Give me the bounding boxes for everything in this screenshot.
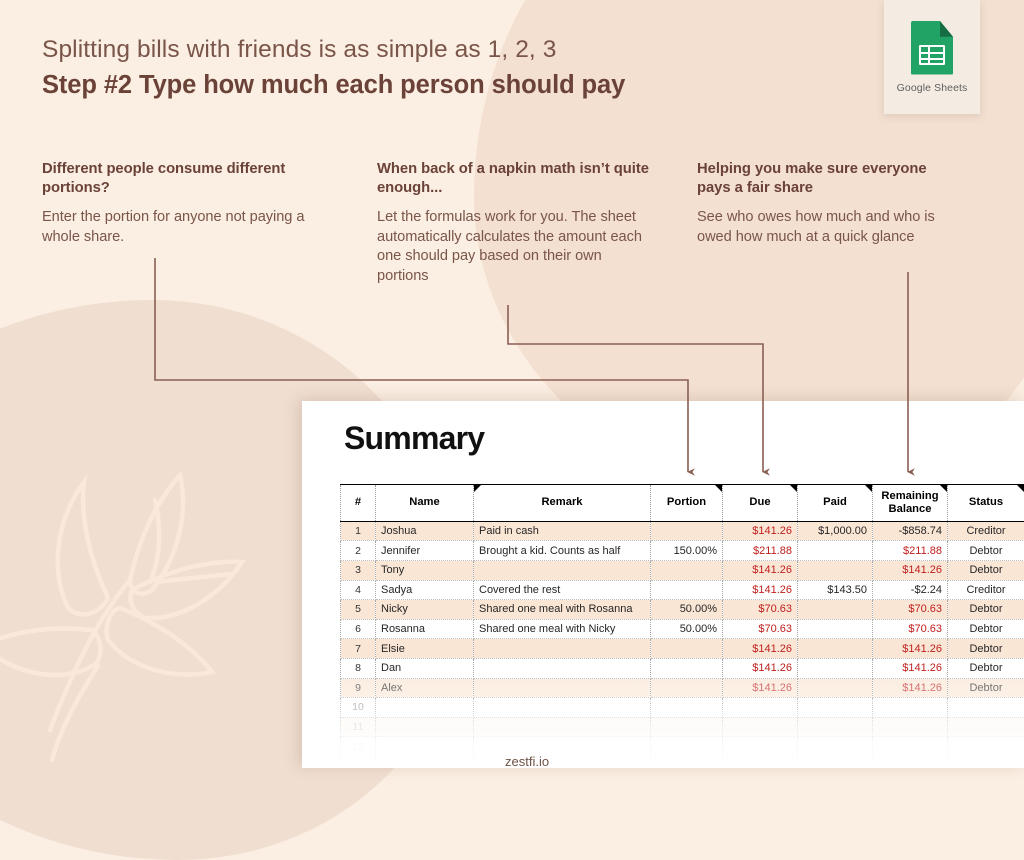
cell-portion[interactable] [651,658,723,678]
table-row[interactable]: 2JenniferBrought a kid. Counts as half15… [341,541,1024,561]
cell-number[interactable]: 1 [341,521,376,541]
cell-due[interactable]: $141.26 [723,560,798,580]
callout-body: Enter the portion for anyone not paying … [42,208,342,247]
cell-name[interactable]: Sadya [376,580,474,600]
cell-status[interactable]: Debtor [948,678,1024,698]
cell-remark[interactable] [474,717,651,737]
headline-step-title: Step #2 Type how much each person should… [42,69,625,103]
cell-remark[interactable] [474,560,651,580]
table-row[interactable]: 6RosannaShared one meal with Nicky50.00%… [341,619,1024,639]
cell-status[interactable] [948,737,1024,757]
cell-paid[interactable] [798,541,873,561]
cell-remaining-balance[interactable]: $141.26 [873,678,948,698]
cell-remaining-balance[interactable]: $141.26 [873,658,948,678]
column-header-remark[interactable]: Remark [474,485,651,522]
cell-remaining-balance[interactable]: $141.26 [873,560,948,580]
cell-due[interactable] [723,717,798,737]
cell-paid[interactable] [798,698,873,718]
table-row[interactable]: 1JoshuaPaid in cash$141.26$1,000.00-$858… [341,521,1024,541]
cell-paid[interactable] [798,756,873,768]
cell-remaining-balance[interactable]: $211.88 [873,541,948,561]
headline-eyebrow: Splitting bills with friends is as simpl… [42,35,625,65]
cell-remaining-balance[interactable] [873,737,948,757]
cell-due[interactable]: $141.26 [723,521,798,541]
google-sheets-icon [911,21,953,75]
cell-name[interactable]: Elsie [376,639,474,659]
cell-portion[interactable] [651,737,723,757]
cell-status[interactable] [948,756,1024,768]
callout-remaining-balance: Helping you make sure everyone pays a fa… [697,160,963,247]
cell-name[interactable]: Jennifer [376,541,474,561]
callout-body: See who owes how much and who is owed ho… [697,208,963,247]
cell-number[interactable]: 5 [341,600,376,620]
cell-remaining-balance[interactable] [873,717,948,737]
table-row[interactable]: 13 [341,756,1024,768]
cell-portion[interactable] [651,580,723,600]
cell-number[interactable]: 10 [341,698,376,718]
cell-portion[interactable]: 50.00% [651,600,723,620]
cell-number[interactable]: 4 [341,580,376,600]
cell-remark[interactable] [474,756,651,768]
cell-portion[interactable] [651,639,723,659]
table-body: 1JoshuaPaid in cash$141.26$1,000.00-$858… [341,521,1024,768]
cell-name[interactable]: Rosanna [376,619,474,639]
cell-number[interactable]: 8 [341,658,376,678]
callout-body: Let the formulas work for you. The sheet… [377,208,649,286]
summary-table[interactable]: # Name Remark Portion Due Paid Remaining… [340,484,1024,768]
cell-name[interactable] [376,756,474,768]
cell-remaining-balance[interactable]: $141.26 [873,639,948,659]
cell-due[interactable]: $141.26 [723,639,798,659]
cell-status[interactable]: Debtor [948,560,1024,580]
table-header-row: # Name Remark Portion Due Paid Remaining… [341,485,1024,522]
spreadsheet-card: Summary # Name Remark Portion Due Paid R… [302,401,1024,768]
cell-name[interactable] [376,717,474,737]
cell-remaining-balance[interactable]: $70.63 [873,619,948,639]
column-header-status[interactable]: Status [948,485,1024,522]
cell-name[interactable] [376,737,474,757]
cell-paid[interactable] [798,678,873,698]
callout-title: Helping you make sure everyone pays a fa… [697,160,963,197]
cell-due[interactable]: $70.63 [723,619,798,639]
cell-number[interactable]: 2 [341,541,376,561]
cell-remaining-balance[interactable]: -$858.74 [873,521,948,541]
column-header-remaining-balance[interactable]: Remaining Balance [873,485,948,522]
cell-portion[interactable] [651,717,723,737]
botanical-leaf-icon [0,430,310,770]
cell-remark[interactable] [474,639,651,659]
cell-paid[interactable] [798,619,873,639]
cell-remark[interactable]: Shared one meal with Nicky [474,619,651,639]
cell-remaining-balance[interactable] [873,698,948,718]
summary-table-wrapper[interactable]: # Name Remark Portion Due Paid Remaining… [340,484,1024,768]
table-row[interactable]: 7Elsie$141.26$141.26Debtor [341,639,1024,659]
cell-name[interactable]: Nicky [376,600,474,620]
cell-paid[interactable] [798,658,873,678]
cell-due[interactable]: $211.88 [723,541,798,561]
cell-number[interactable]: 9 [341,678,376,698]
cell-status[interactable]: Debtor [948,658,1024,678]
table-row[interactable]: 12 [341,737,1024,757]
callout-title: When back of a napkin math isn’t quite e… [377,160,649,197]
cell-remaining-balance[interactable]: -$2.24 [873,580,948,600]
callout-due: When back of a napkin math isn’t quite e… [377,160,649,286]
cell-due[interactable]: $141.26 [723,580,798,600]
cell-due[interactable] [723,737,798,757]
table-row[interactable]: 3Tony$141.26$141.26Debtor [341,560,1024,580]
cell-due[interactable] [723,756,798,768]
cell-name[interactable]: Joshua [376,521,474,541]
table-row[interactable]: 5NickyShared one meal with Rosanna50.00%… [341,600,1024,620]
cell-paid[interactable] [798,639,873,659]
cell-name[interactable]: Tony [376,560,474,580]
table-row[interactable]: 11 [341,717,1024,737]
cell-status[interactable]: Debtor [948,619,1024,639]
column-header-due[interactable]: Due [723,485,798,522]
cell-due[interactable]: $141.26 [723,678,798,698]
callout-title: Different people consume different porti… [42,160,342,197]
sheet-title: Summary [344,420,484,457]
page-title: Splitting bills with friends is as simpl… [42,35,625,103]
cell-name[interactable]: Alex [376,678,474,698]
cell-status[interactable] [948,717,1024,737]
column-header-number[interactable]: # [341,485,376,522]
cell-name[interactable] [376,698,474,718]
cell-status[interactable]: Creditor [948,521,1024,541]
google-sheets-label: Google Sheets [897,82,968,94]
cell-remark[interactable]: Brought a kid. Counts as half [474,541,651,561]
cell-portion[interactable]: 50.00% [651,619,723,639]
cell-portion[interactable] [651,521,723,541]
google-sheets-logo-card: Google Sheets [884,0,980,114]
cell-due[interactable]: $70.63 [723,600,798,620]
cell-status[interactable]: Creditor [948,580,1024,600]
cell-number[interactable]: 7 [341,639,376,659]
cell-remaining-balance[interactable] [873,756,948,768]
cell-status[interactable] [948,698,1024,718]
cell-paid[interactable] [798,737,873,757]
cell-remark[interactable]: Paid in cash [474,521,651,541]
watermark: zestfi.io [505,754,549,768]
cell-remark[interactable] [474,698,651,718]
cell-number[interactable]: 3 [341,560,376,580]
cell-portion[interactable] [651,560,723,580]
table-row[interactable]: 9Alex$141.26$141.26Debtor [341,678,1024,698]
cell-due[interactable] [723,698,798,718]
cell-name[interactable]: Dan [376,658,474,678]
cell-remark[interactable] [474,737,651,757]
callout-portion: Different people consume different porti… [42,160,342,247]
cell-remark[interactable]: Shared one meal with Rosanna [474,600,651,620]
cell-status[interactable]: Debtor [948,639,1024,659]
table-row[interactable]: 10 [341,698,1024,718]
column-header-name[interactable]: Name [376,485,474,522]
cell-paid[interactable]: $143.50 [798,580,873,600]
column-header-portion[interactable]: Portion [651,485,723,522]
cell-paid[interactable] [798,560,873,580]
cell-portion[interactable]: 150.00% [651,541,723,561]
cell-number[interactable]: 13 [341,756,376,768]
cell-paid[interactable] [798,600,873,620]
cell-portion[interactable] [651,678,723,698]
cell-status[interactable]: Debtor [948,600,1024,620]
cell-remark[interactable]: Covered the rest [474,580,651,600]
cell-number[interactable]: 12 [341,737,376,757]
column-header-paid[interactable]: Paid [798,485,873,522]
cell-number[interactable]: 11 [341,717,376,737]
cell-portion[interactable] [651,756,723,768]
cell-remark[interactable] [474,678,651,698]
cell-status[interactable]: Debtor [948,541,1024,561]
cell-remaining-balance[interactable]: $70.63 [873,600,948,620]
table-row[interactable]: 8Dan$141.26$141.26Debtor [341,658,1024,678]
cell-paid[interactable]: $1,000.00 [798,521,873,541]
cell-remark[interactable] [474,658,651,678]
cell-portion[interactable] [651,698,723,718]
table-row[interactable]: 4SadyaCovered the rest$141.26$143.50-$2.… [341,580,1024,600]
cell-number[interactable]: 6 [341,619,376,639]
cell-due[interactable]: $141.26 [723,658,798,678]
cell-paid[interactable] [798,717,873,737]
